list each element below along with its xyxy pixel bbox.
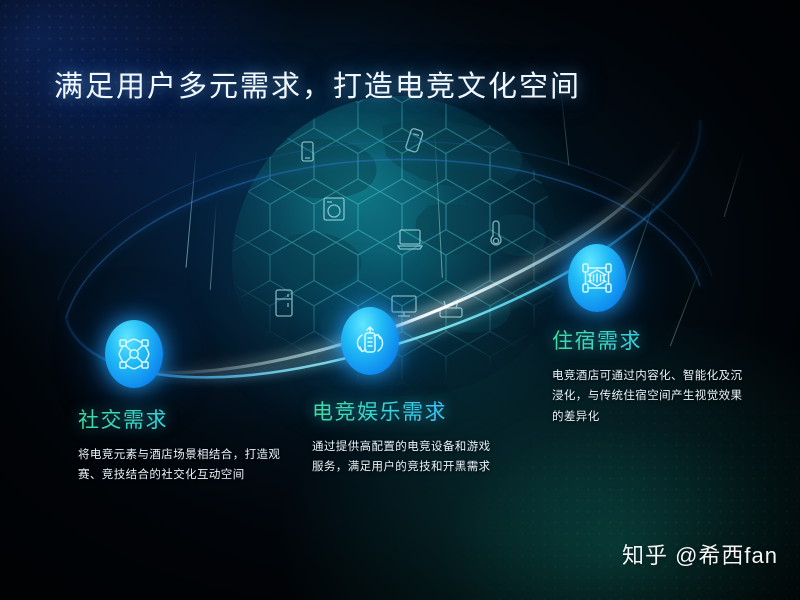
block-heading-esports: 电竞娱乐需求 — [312, 396, 502, 426]
network-molecule-icon — [105, 320, 163, 388]
page-title: 满足用户多元需求，打造电竞文化空间 — [54, 63, 581, 105]
watermark: 知乎 @希西fan — [622, 538, 778, 570]
block-body-esports: 通过提供高配置的电竞设备和游戏服务，满足用户的竞技和开黑需求 — [312, 437, 502, 478]
block-heading-stay: 住宿需求 — [552, 325, 748, 355]
node-esports[interactable] — [341, 307, 399, 375]
smart-hub-icon — [568, 244, 626, 312]
text-block-social: 社交需求 将电竞元素与酒店场景相结合，打造观赛、竞技结合的社交化互动空间 — [78, 404, 288, 486]
block-body-stay: 电竞酒店可通过内容化、智能化及沉浸化，与传统住宿空间产生视觉效果的差异化 — [552, 366, 748, 427]
text-block-stay: 住宿需求 电竞酒店可通过内容化、智能化及沉浸化，与传统住宿空间产生视觉效果的差异… — [552, 325, 748, 427]
node-social[interactable] — [105, 320, 163, 388]
text-block-esports: 电竞娱乐需求 通过提供高配置的电竞设备和游戏服务，满足用户的竞技和开黑需求 — [312, 396, 502, 478]
device-cycle-icon — [341, 307, 399, 375]
slide-canvas: 满足用户多元需求，打造电竞文化空间 — [0, 0, 800, 600]
block-heading-social: 社交需求 — [78, 404, 288, 434]
node-stay[interactable] — [568, 244, 626, 312]
block-body-social: 将电竞元素与酒店场景相结合，打造观赛、竞技结合的社交化互动空间 — [78, 445, 288, 486]
